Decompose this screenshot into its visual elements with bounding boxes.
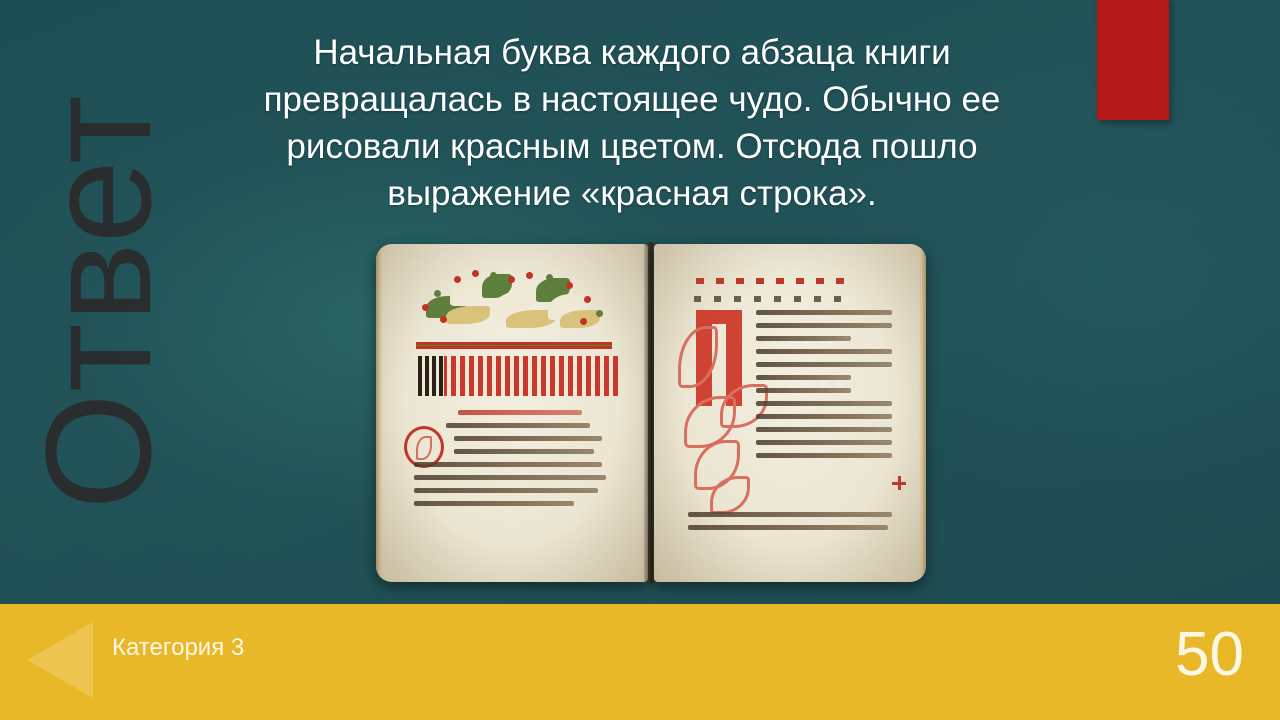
answer-line: выражение «красная строка». xyxy=(212,171,1052,218)
book-page-right xyxy=(654,244,926,582)
answer-line: рисовали красным цветом. Отсюда пошло xyxy=(212,124,1052,171)
back-arrow-icon[interactable] xyxy=(27,622,93,698)
right-page-bottom-lines xyxy=(688,512,892,538)
category-label[interactable]: Категория 3 xyxy=(112,634,244,662)
ornamental-headpiece xyxy=(420,270,606,338)
page-edge xyxy=(919,244,926,582)
book-page-left xyxy=(376,244,648,582)
cross-mark-icon xyxy=(892,476,906,490)
footer-bar: Категория 3 50 xyxy=(0,604,1280,720)
score-value: 50 xyxy=(1175,624,1244,686)
book-illustration xyxy=(376,244,926,582)
decorated-title-band xyxy=(418,356,618,396)
headpiece-rule xyxy=(416,342,612,349)
right-page-header-row xyxy=(696,278,846,284)
right-page-text-lines xyxy=(756,310,892,466)
left-page-text-lines xyxy=(414,410,614,514)
answer-text: Начальная буква каждого абзаца книги пре… xyxy=(212,30,1052,218)
answer-line: Начальная буква каждого абзаца книги xyxy=(212,30,1052,77)
answer-line: превращалась в настоящее чудо. Обычно ее xyxy=(212,77,1052,124)
page-edge xyxy=(376,244,383,582)
quiz-answer-slide: Ответ Начальная буква каждого абзаца кни… xyxy=(0,0,1280,720)
right-page-header-row xyxy=(694,296,844,302)
red-accent-block xyxy=(1097,0,1169,120)
